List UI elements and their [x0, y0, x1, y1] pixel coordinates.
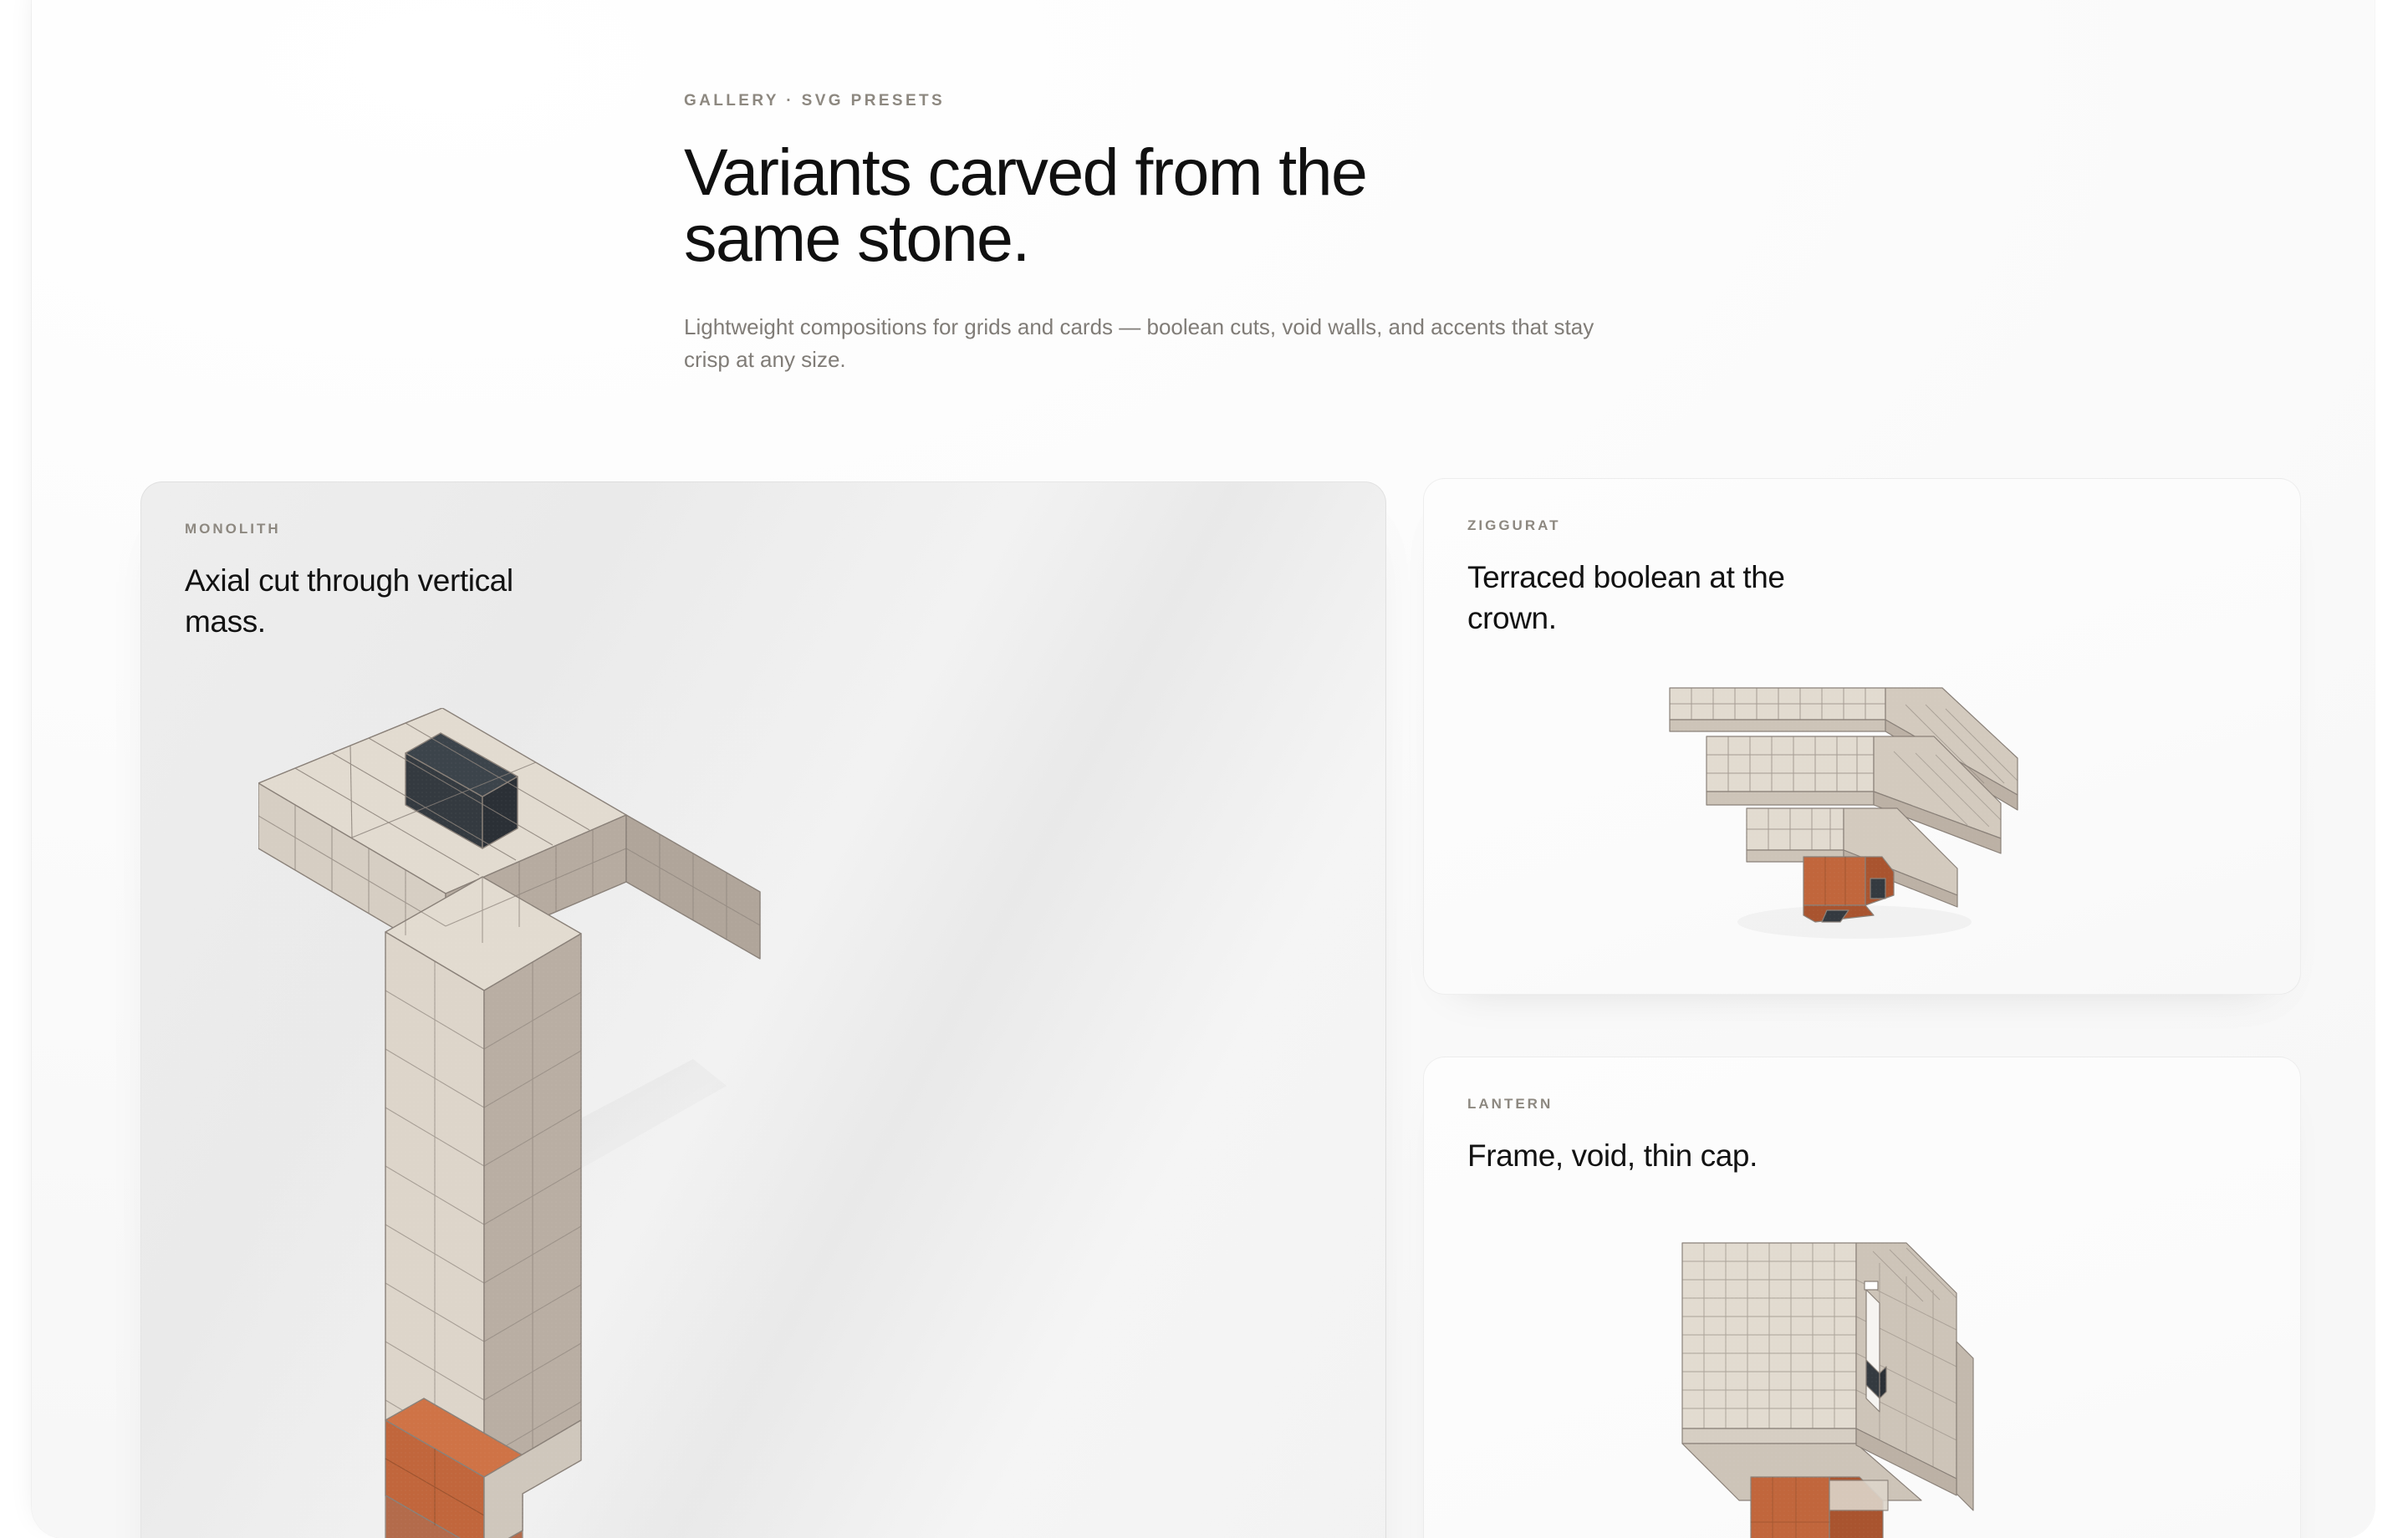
isometric-lantern-illustration: [1679, 1235, 2013, 1538]
hero-section: GALLERY · SVG PRESETS Variants carved fr…: [684, 92, 1771, 376]
card-lantern-title: Frame, void, thin cap.: [1467, 1136, 1819, 1177]
card-monolith-body: MONOLITH Axial cut through vertical mass…: [185, 521, 1352, 643]
hero-subtitle: Lightweight compositions for grids and c…: [684, 311, 1645, 376]
card-monolith-eyebrow: MONOLITH: [185, 521, 1352, 537]
app-shell: GALLERY · SVG PRESETS Variants carved fr…: [32, 0, 2375, 1538]
card-ziggurat-body: ZIGGURAT Terraced boolean at the crown.: [1467, 517, 2267, 639]
page-title: Variants carved from the same stone.: [684, 139, 1378, 271]
card-ziggurat-eyebrow: ZIGGURAT: [1467, 517, 2267, 534]
card-ziggurat-title: Terraced boolean at the crown.: [1467, 558, 1819, 639]
isometric-terrace-illustration: [1666, 671, 2043, 939]
card-monolith-title: Axial cut through vertical mass.: [185, 561, 544, 643]
card-monolith[interactable]: MONOLITH Axial cut through vertical mass…: [140, 481, 1386, 1538]
isometric-t-block-illustration: [258, 708, 777, 1538]
card-lantern[interactable]: LANTERN Frame, void, thin cap.: [1423, 1057, 2301, 1538]
card-ziggurat[interactable]: ZIGGURAT Terraced boolean at the crown.: [1423, 478, 2301, 995]
card-lantern-body: LANTERN Frame, void, thin cap.: [1467, 1096, 2267, 1177]
hero-eyebrow: GALLERY · SVG PRESETS: [684, 92, 1771, 110]
card-lantern-eyebrow: LANTERN: [1467, 1096, 2267, 1113]
